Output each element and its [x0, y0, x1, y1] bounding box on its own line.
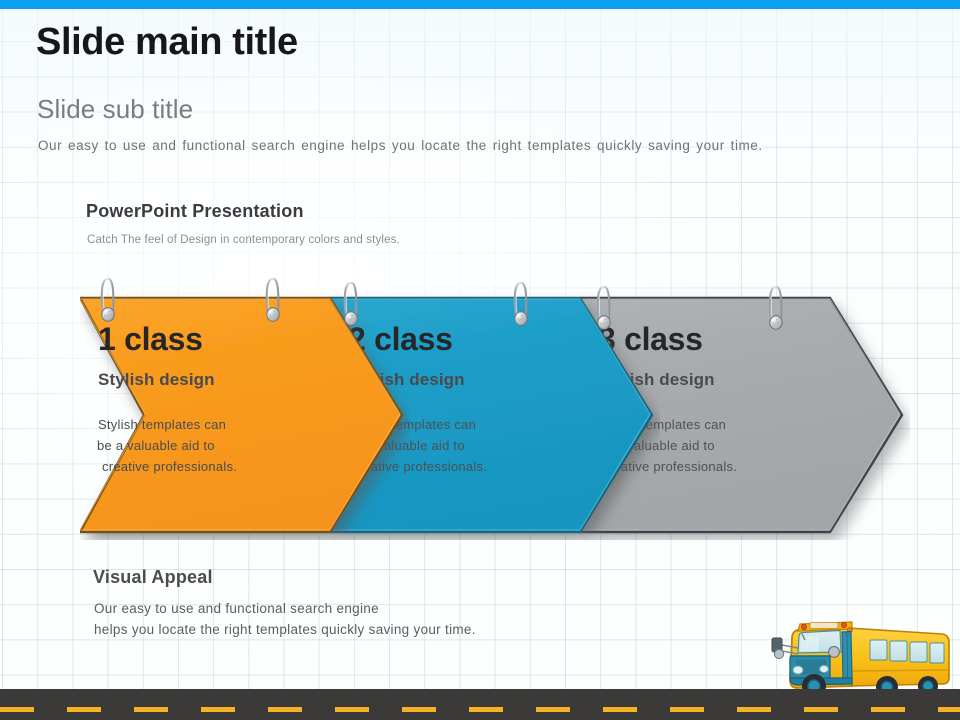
binder-ring-icon [763, 280, 789, 334]
arrow-card-1-desc-line-3: creative professionals. [102, 456, 410, 477]
school-bus-icon [752, 608, 952, 700]
binder-ring-icon [338, 276, 364, 330]
arrow-card-1-desc-line-2: be a valuable aid to [97, 435, 410, 456]
footer-description: Our easy to use and functional search en… [94, 598, 476, 640]
binder-ring-icon [260, 272, 286, 326]
slide-canvas: Slide main title Slide sub title Our eas… [0, 0, 960, 720]
binder-ring-icon [95, 272, 121, 326]
footer-heading: Visual Appeal [93, 567, 213, 588]
footer-desc-line-2: helps you locate the right templates qui… [94, 619, 476, 640]
road-strip [0, 689, 960, 720]
arrow-card-1-desc-line-1: Stylish templates can [98, 414, 410, 435]
binder-ring-icon [508, 276, 534, 330]
arrow-card-1-description: Stylish templates can be a valuable aid … [98, 414, 410, 477]
binder-ring-icon [591, 280, 617, 334]
footer-desc-line-1: Our easy to use and functional search en… [94, 598, 476, 619]
road-lane-dashes [0, 707, 960, 712]
arrow-card-1-subtitle: Stylish design [98, 371, 410, 388]
